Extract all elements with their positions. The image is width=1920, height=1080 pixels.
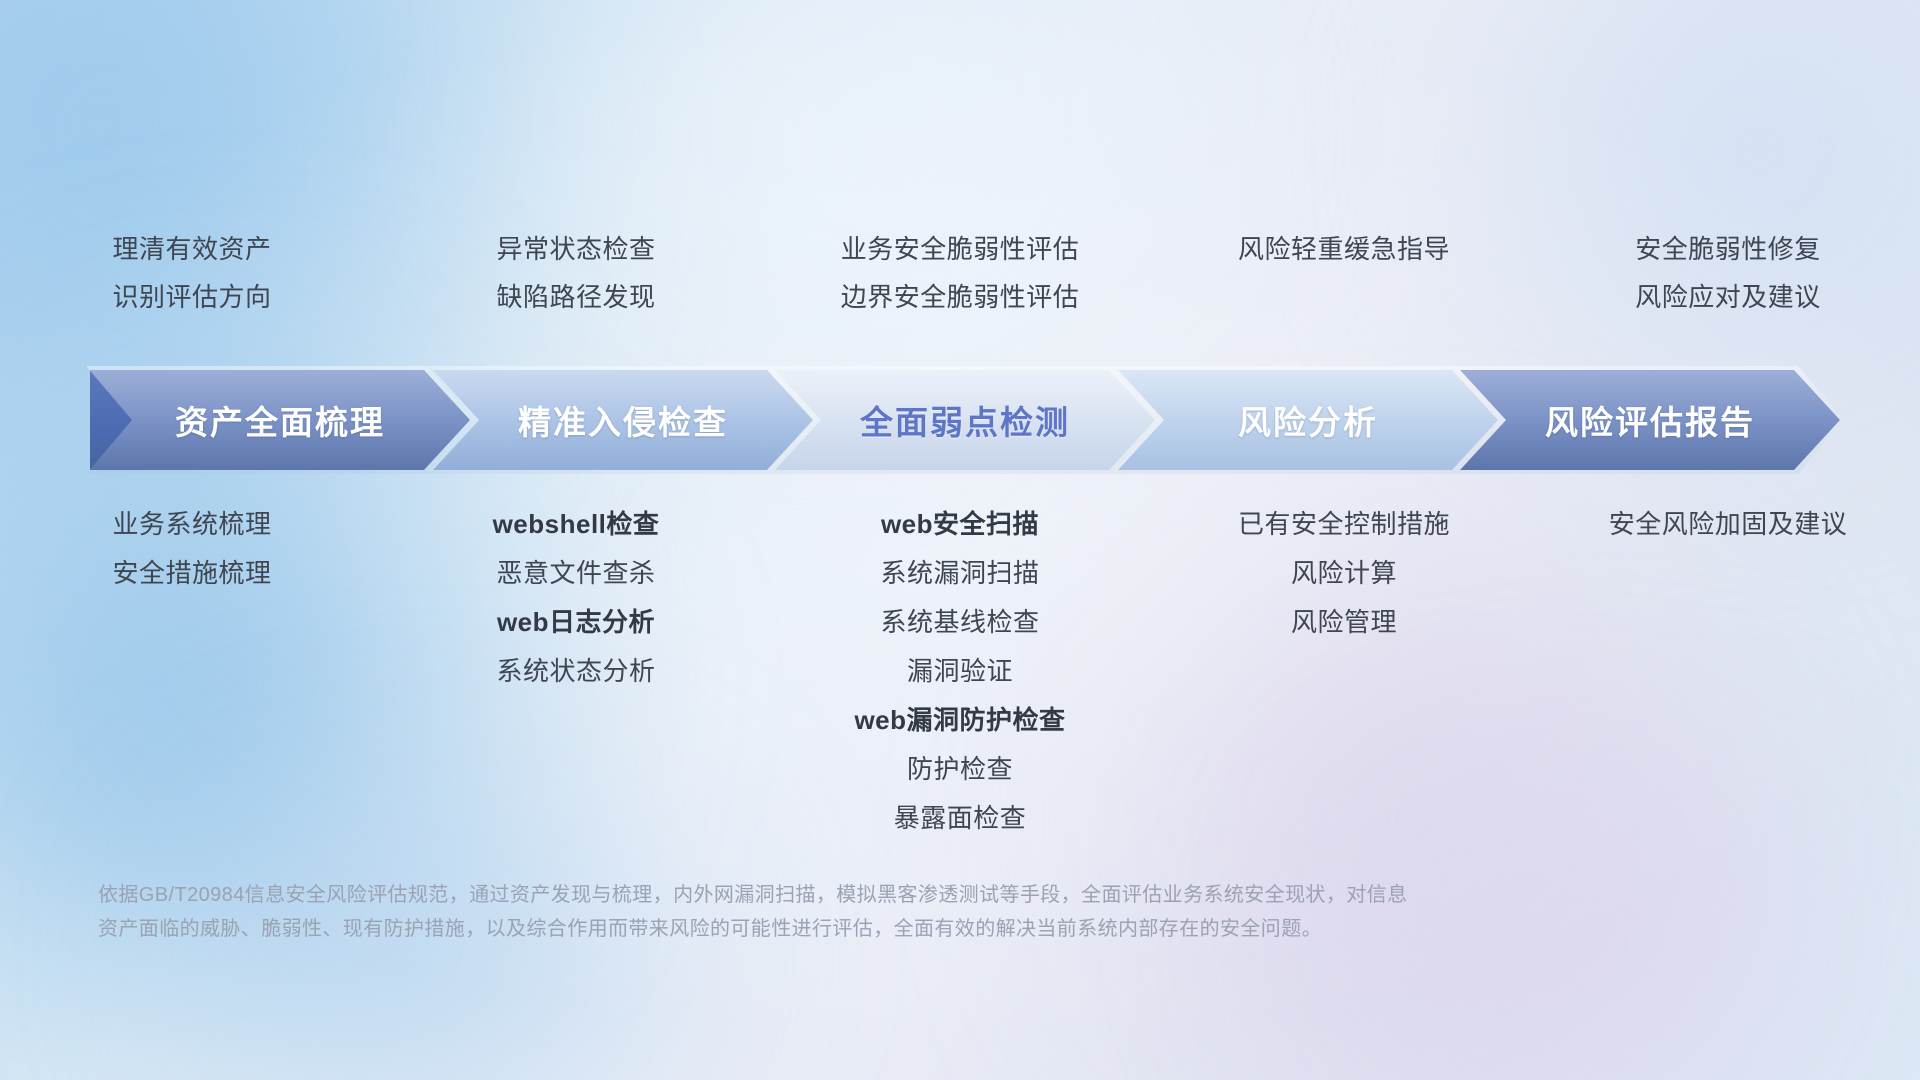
process-stage-4[interactable]: 风险分析 xyxy=(1118,370,1498,470)
detail-list-item: 漏洞验证 xyxy=(907,647,1013,696)
top-label-line: 风险应对及建议 xyxy=(1635,273,1821,321)
stage-label: 风险分析 xyxy=(1238,396,1378,444)
detail-list-item: 业务系统梳理 xyxy=(112,500,271,549)
detail-list-item: 系统状态分析 xyxy=(496,647,655,696)
top-label-line: 业务安全脆弱性评估 xyxy=(841,225,1080,273)
detail-list-item: 安全风险加固及建议 xyxy=(1609,500,1848,549)
detail-list-item: 暴露面检查 xyxy=(894,794,1027,843)
detail-list-column: 已有安全控制措施风险计算风险管理 xyxy=(1152,500,1536,647)
footer-description: 依据GB/T20984信息安全风险评估规范，通过资产发现与梳理，内外网漏洞扫描，… xyxy=(98,878,1618,946)
top-label-line: 边界安全脆弱性评估 xyxy=(841,273,1080,321)
top-labels-row: 理清有效资产识别评估方向异常状态检查缺陷路径发现业务安全脆弱性评估边界安全脆弱性… xyxy=(0,225,1920,335)
process-stage-2[interactable]: 精准入侵检查 xyxy=(433,370,813,470)
bottom-lists-row: 业务系统梳理安全措施梳理webshell检查恶意文件查杀web日志分析系统状态分… xyxy=(0,500,1920,843)
top-label-column: 理清有效资产识别评估方向 xyxy=(0,225,384,335)
detail-list-column: 业务系统梳理安全措施梳理 xyxy=(0,500,384,598)
top-label-line: 风险轻重缓急指导 xyxy=(1238,225,1450,273)
detail-list-item: 风险计算 xyxy=(1291,549,1397,598)
footer-line-2: 资产面临的威胁、脆弱性、现有防护措施，以及综合作用而带来风险的可能性进行评估，全… xyxy=(98,912,1618,946)
detail-list-column: 安全风险加固及建议 xyxy=(1536,500,1920,549)
top-label-line: 理清有效资产 xyxy=(112,225,271,273)
stage-label: 精准入侵检查 xyxy=(518,396,728,444)
detail-list-item: 系统基线检查 xyxy=(880,598,1039,647)
top-label-column: 风险轻重缓急指导 xyxy=(1152,225,1536,335)
top-label-line: 识别评估方向 xyxy=(112,273,271,321)
process-stage-5[interactable]: 风险评估报告 xyxy=(1460,370,1840,470)
detail-list-item: webshell检查 xyxy=(493,500,660,549)
detail-list-item: 系统漏洞扫描 xyxy=(880,549,1039,598)
process-stage-1[interactable]: 资产全面梳理 xyxy=(90,370,470,470)
stage-label: 资产全面梳理 xyxy=(175,396,385,444)
detail-list-item: 风险管理 xyxy=(1291,598,1397,647)
detail-list-column: webshell检查恶意文件查杀web日志分析系统状态分析 xyxy=(384,500,768,696)
top-label-column: 业务安全脆弱性评估边界安全脆弱性评估 xyxy=(768,225,1152,335)
stage-label: 风险评估报告 xyxy=(1545,396,1755,444)
slide-canvas: 理清有效资产识别评估方向异常状态检查缺陷路径发现业务安全脆弱性评估边界安全脆弱性… xyxy=(0,0,1920,1080)
top-label-line: 安全脆弱性修复 xyxy=(1635,225,1821,273)
detail-list-item: 防护检查 xyxy=(907,745,1013,794)
footer-line-1: 依据GB/T20984信息安全风险评估规范，通过资产发现与梳理，内外网漏洞扫描，… xyxy=(98,878,1618,912)
stage-label: 全面弱点检测 xyxy=(860,396,1070,444)
detail-list-item: web漏洞防护检查 xyxy=(854,696,1065,745)
detail-list-item: web安全扫描 xyxy=(881,500,1039,549)
detail-list-item: 恶意文件查杀 xyxy=(496,549,655,598)
detail-list-column: web安全扫描系统漏洞扫描系统基线检查漏洞验证web漏洞防护检查防护检查暴露面检… xyxy=(768,500,1152,843)
process-arrow-band: 资产全面梳理精准入侵检查全面弱点检测风险分析风险评估报告 xyxy=(90,370,1840,470)
process-stage-3[interactable]: 全面弱点检测 xyxy=(775,370,1155,470)
top-label-column: 异常状态检查缺陷路径发现 xyxy=(384,225,768,335)
top-label-line: 异常状态检查 xyxy=(496,225,655,273)
top-label-column: 安全脆弱性修复风险应对及建议 xyxy=(1536,225,1920,335)
top-label-line: 缺陷路径发现 xyxy=(496,273,655,321)
detail-list-item: 安全措施梳理 xyxy=(112,549,271,598)
detail-list-item: web日志分析 xyxy=(497,598,655,647)
detail-list-item: 已有安全控制措施 xyxy=(1238,500,1450,549)
